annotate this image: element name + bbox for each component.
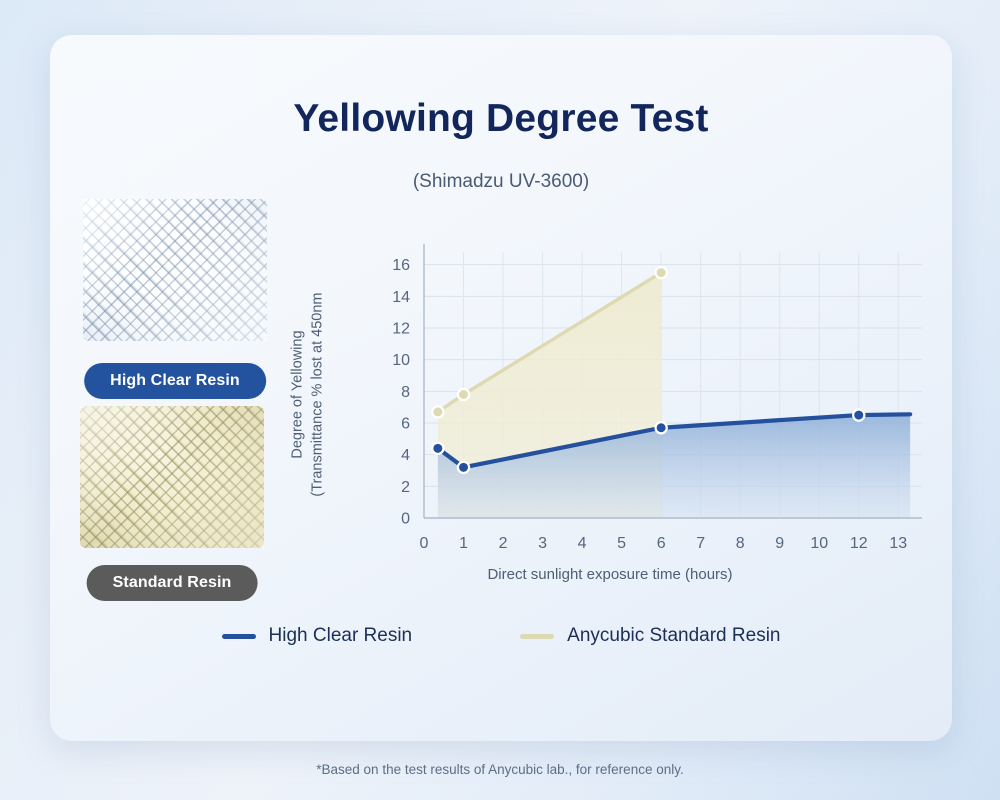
page-title: Yellowing Degree Test [50,97,952,141]
y-tick-label: 12 [392,321,410,338]
badge-standard-resin: Standard Resin [87,565,258,601]
product-panel-standard-resin: Standard Resin [72,402,272,552]
x-tick-label: 10 [810,535,828,552]
x-tick-label: 6 [657,535,666,552]
x-tick-label: 4 [578,535,587,552]
x-tick-label: 8 [736,535,745,552]
clear-lattice-cube-image [75,195,275,345]
x-tick-label: 3 [538,535,547,552]
x-tick-label: 2 [499,535,508,552]
x-tick-label: 9 [775,535,784,552]
y-tick-label: 4 [401,447,410,464]
chart-card: Yellowing Degree Test (Shimadzu UV-3600)… [50,35,952,741]
x-axis-tick-labels: 0123456789101213 [420,535,908,552]
legend-item-anycubic-standard-resin[interactable]: Anycubic Standard Resin [520,625,780,647]
data-point[interactable] [853,409,864,420]
chart-areas [438,273,910,518]
data-point[interactable] [458,389,469,400]
yellowed-lattice-cube-image [72,402,272,552]
y-tick-label: 2 [401,479,410,496]
y-tick-label: 0 [401,511,410,528]
page-subtitle: (Shimadzu UV-3600) [50,171,952,193]
footnote: *Based on the test results of Anycubic l… [0,762,1000,777]
y-tick-label: 14 [392,289,410,306]
data-point[interactable] [458,462,469,473]
y-axis-title: Degree of Yellowing (Transmittance % los… [288,185,327,605]
legend-label-high-clear-resin: High Clear Resin [269,625,413,647]
chart-legend: High Clear Resin Anycubic Standard Resin [50,625,952,647]
clear-lattice-texture [83,199,267,341]
data-point[interactable] [656,267,667,278]
legend-item-high-clear-resin[interactable]: High Clear Resin [222,625,413,647]
legend-swatch-icon-high-clear-resin [222,634,256,639]
x-axis-title: Direct sunlight exposure time (hours) [290,566,930,583]
y-axis-tick-labels: 0246810121416 [392,257,410,527]
line-chart: 0246810121416 0123456789101213 Direct su… [290,230,930,630]
chart-canvas: 0246810121416 0123456789101213 [290,230,930,560]
y-tick-label: 8 [401,384,410,401]
y-tick-label: 6 [401,416,410,433]
data-point[interactable] [432,443,443,454]
data-point[interactable] [656,422,667,433]
legend-label-anycubic-standard-resin: Anycubic Standard Resin [567,625,780,647]
product-panel-high-clear-resin: High Clear Resin [75,195,275,345]
y-tick-label: 10 [392,352,410,369]
x-tick-label: 13 [889,535,907,552]
yellowed-lattice-texture [80,406,264,548]
legend-swatch-icon-anycubic-standard-resin [520,634,554,639]
x-tick-label: 5 [617,535,626,552]
x-tick-label: 1 [459,535,468,552]
y-axis-title-line1: Degree of Yellowing [288,185,308,605]
x-tick-label: 7 [696,535,705,552]
x-tick-label: 12 [850,535,868,552]
badge-high-clear-resin: High Clear Resin [84,363,266,399]
y-tick-label: 16 [392,257,410,274]
data-point[interactable] [432,406,443,417]
y-axis-title-line2: (Transmittance % lost at 450nm [308,185,328,605]
x-tick-label: 0 [420,535,429,552]
